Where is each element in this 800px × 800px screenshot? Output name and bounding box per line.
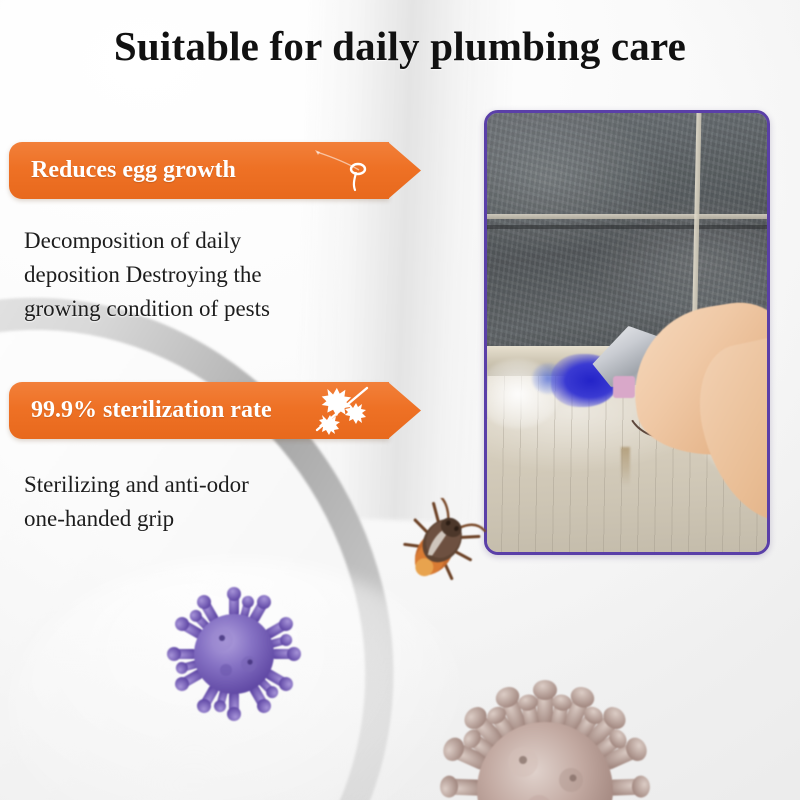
description-line: Decomposition of daily	[24, 224, 354, 258]
sperm-egg-icon	[309, 142, 383, 199]
description-line: deposition Destroying the	[24, 258, 354, 292]
photo-floor-stain	[621, 447, 629, 487]
feature-banner-sterilization-rate[interactable]: 99.9% sterilization rate	[9, 382, 389, 439]
virus-purple-icon	[166, 586, 302, 722]
feature-banner-label: Reduces egg growth	[9, 157, 236, 184]
product-demo-photo	[484, 110, 770, 555]
description-line: Sterilizing and anti-odor	[24, 468, 354, 502]
description-line: growing condition of pests	[24, 292, 354, 326]
feature-description-sterilization-rate: Sterilizing and anti-odor one-handed gri…	[24, 468, 354, 536]
photo-grout-shadow	[487, 225, 767, 229]
feature-banner-label: 99.9% sterilization rate	[9, 397, 272, 424]
page-title: Suitable for daily plumbing care	[0, 22, 800, 70]
product-feature-poster: Suitable for daily plumbing care Reduces…	[0, 0, 800, 800]
description-line: one-handed grip	[24, 502, 354, 536]
feature-description-reduces-egg-growth: Decomposition of daily deposition Destro…	[24, 224, 354, 326]
germ-splat-icon	[309, 382, 383, 439]
cockroach-icon	[392, 498, 488, 590]
virus-beige-icon	[432, 662, 658, 800]
photo-grout-horizontal	[487, 214, 767, 219]
feature-banner-reduces-egg-growth[interactable]: Reduces egg growth	[9, 142, 389, 199]
